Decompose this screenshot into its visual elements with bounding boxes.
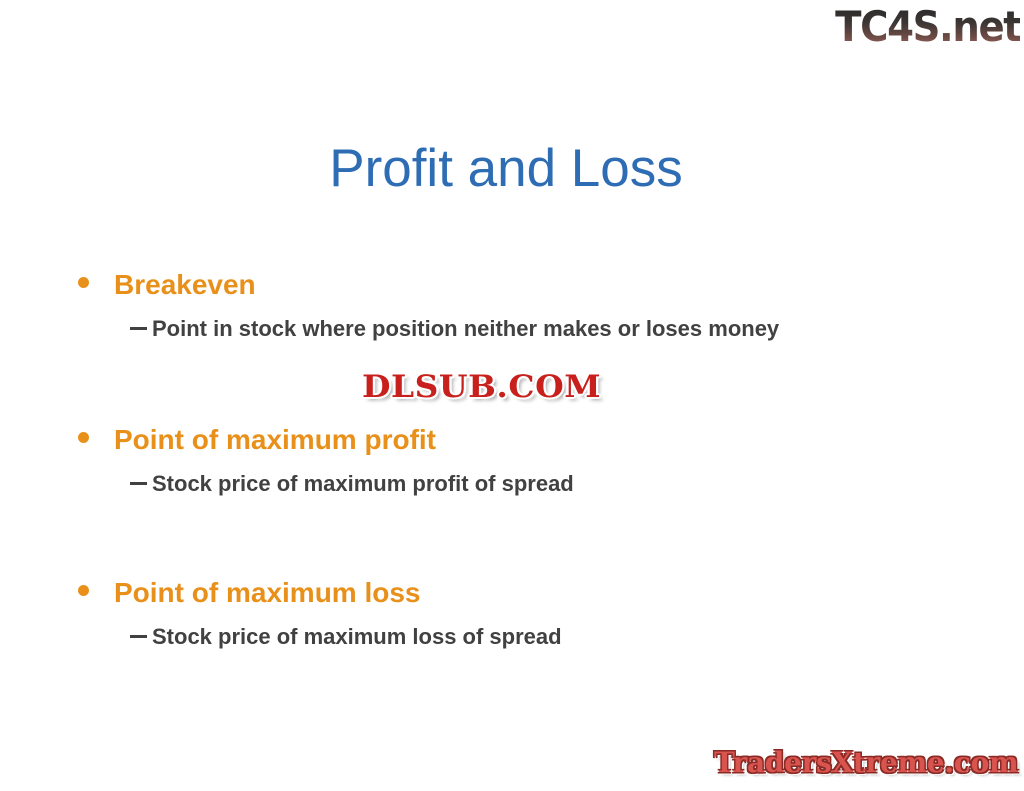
site-logo-tradersxtreme: TradersXtreme.com xyxy=(714,746,1018,780)
bullet-group-breakeven: Breakeven Point in stock where position … xyxy=(78,268,978,343)
watermark-dlsub: DLSUB.COM xyxy=(362,368,601,406)
bullet-level2-label: Point in stock where position neither ma… xyxy=(152,315,779,343)
bullet-level2-item: Point in stock where position neither ma… xyxy=(130,315,978,343)
bullet-level1-item: Breakeven xyxy=(78,268,978,302)
bullet-level1-item: Point of maximum profit xyxy=(78,423,978,457)
slide-title: Profit and Loss xyxy=(0,136,1024,202)
bullet-level2-label: Stock price of maximum loss of spread xyxy=(152,623,562,651)
brand-logo-text: TC4S.net xyxy=(835,6,1020,48)
bullet-dot-icon xyxy=(78,585,89,596)
bullet-level2-item: Stock price of maximum loss of spread xyxy=(130,623,978,651)
bullet-dash-icon xyxy=(130,635,147,638)
bullet-level1-item: Point of maximum loss xyxy=(78,576,978,610)
bullet-dash-icon xyxy=(130,327,147,330)
presentation-slide: TC4S.net Profit and Loss Breakeven Point… xyxy=(0,0,1024,791)
brand-logo-tc4s: TC4S.net xyxy=(828,2,1020,52)
slide-body-content: Breakeven Point in stock where position … xyxy=(78,268,978,651)
bullet-level1-label: Point of maximum profit xyxy=(114,423,436,457)
bullet-level1-label: Point of maximum loss xyxy=(114,576,421,610)
bullet-level2-item: Stock price of maximum profit of spread xyxy=(130,470,978,498)
bullet-dot-icon xyxy=(78,277,89,288)
bullet-level2-label: Stock price of maximum profit of spread xyxy=(152,470,574,498)
bullet-group-max-profit: Point of maximum profit Stock price of m… xyxy=(78,423,978,498)
bullet-group-max-loss: Point of maximum loss Stock price of max… xyxy=(78,576,978,651)
bullet-dot-icon xyxy=(78,432,89,443)
bullet-dash-icon xyxy=(130,482,147,485)
bullet-level1-label: Breakeven xyxy=(114,268,256,302)
